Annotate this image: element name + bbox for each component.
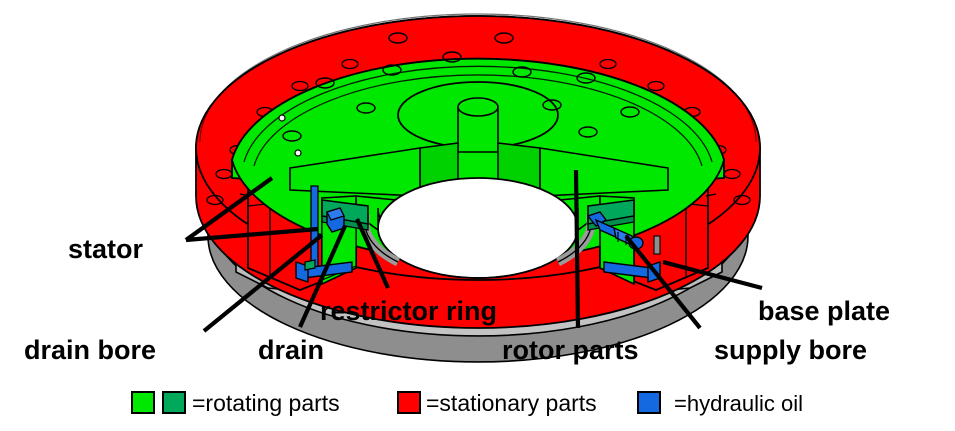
label-drain: drain: [258, 335, 324, 365]
legend-swatch-hydraulic-oil: [638, 392, 660, 413]
label-base-plate: base plate: [758, 296, 890, 326]
legend-swatch-rotating-dark: [163, 392, 185, 413]
label-drain-bore: drain bore: [24, 335, 156, 365]
label-restrictor-ring: restrictor ring: [320, 296, 497, 326]
legend-text-hydraulic-oil: =hydraulic oil: [674, 391, 803, 416]
legend-swatch-stationary: [398, 392, 420, 413]
cutaway-diagram: stator drain bore drain restrictor ring …: [0, 0, 955, 431]
technical-figure: stator drain bore drain restrictor ring …: [0, 0, 955, 431]
label-stator: stator: [68, 234, 144, 264]
label-rotor-parts: rotor parts: [502, 335, 639, 365]
legend-swatch-rotating-light: [132, 392, 154, 413]
label-supply-bore: supply bore: [714, 335, 867, 365]
legend-text-rotating-parts: =rotating parts: [192, 390, 340, 416]
legend: =rotating parts =stationary parts =hydra…: [132, 390, 803, 416]
legend-text-stationary-parts: =stationary parts: [426, 390, 597, 416]
leader-rotor-parts: [576, 170, 578, 328]
